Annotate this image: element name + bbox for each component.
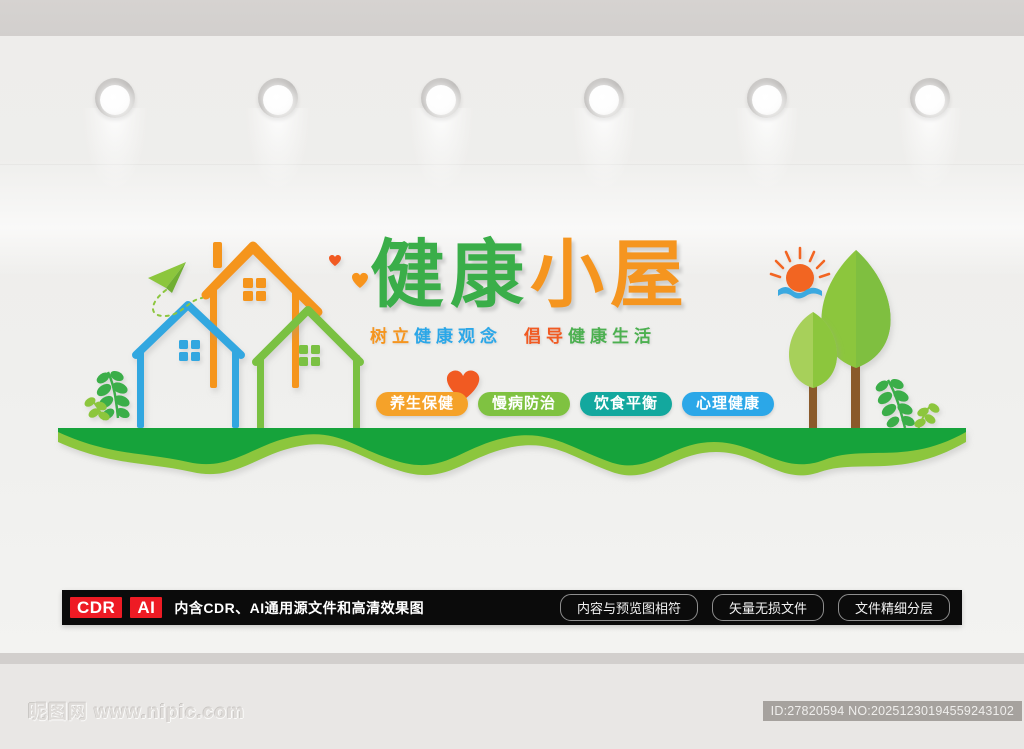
topic-pill-group: 养生保健 慢病防治 饮食平衡 心理健康 [376,392,774,416]
house-orange-window [243,278,266,301]
leaf-branch-icon [83,369,132,422]
subtitle: 树立健康观念倡导健康生活 [370,322,790,347]
tree-icon [789,312,837,435]
lamp-bulb-icon [263,85,293,115]
title-orange-part: 小屋 [530,233,690,316]
subtitle-char: 树 [370,327,392,346]
asset-id-label: ID:27820594 NO:20251230194559243102 [763,701,1022,721]
pill-label: 慢病防治 [492,395,556,412]
info-bar: CDR AI 内含CDR、AI通用源文件和高清效果图 内容与预览图相符 矢量无损… [62,590,962,625]
wall-artwork: 健康小屋 树立健康观念倡导健康生活 养生保健 慢病防治 饮食平衡 心理健康 [0,180,1024,500]
format-badge-cdr: CDR [70,597,122,618]
ceiling-light-2 [258,78,298,118]
pill-label: 养生保健 [390,395,454,412]
wave-graphic [58,428,966,475]
subtitle-char: 康 [436,327,458,346]
lamp-bulb-icon [426,85,456,115]
poster-preview-canvas: 健康小屋 树立健康观念倡导健康生活 养生保健 慢病防治 饮食平衡 心理健康 CD… [0,0,1024,749]
feature-pill-layers: 文件精细分层 [838,594,950,621]
subtitle-char: 健 [414,327,436,346]
ceiling-light-5 [747,78,787,118]
subtitle-char: 念 [480,327,502,346]
ceiling-light-1 [95,78,135,118]
paper-plane-icon [148,262,186,293]
footer-divider [0,653,1024,664]
subtitle-char: 立 [392,327,414,346]
format-badge-ai: AI [130,597,162,618]
title-block: 健康小屋 树立健康观念倡导健康生活 [370,232,790,347]
page-title: 健康小屋 [370,232,790,318]
ceiling-light-6 [910,78,950,118]
heart-icon [352,273,368,288]
ceiling-light-3 [421,78,461,118]
subtitle-char: 活 [634,327,656,346]
topic-pill-yangsheng[interactable]: 养生保健 [376,392,468,416]
info-bar-description: 内含CDR、AI通用源文件和高清效果图 [174,598,424,618]
feature-pill-group: 内容与预览图相符 矢量无损文件 文件精细分层 [560,594,962,621]
lamp-bulb-icon [915,85,945,115]
subtitle-char: 倡 [524,327,546,346]
subtitle-char: 生 [612,327,634,346]
site-watermark: 昵图网 www.nipic.com [28,697,245,724]
house-blue-window [179,340,200,361]
lamp-bulb-icon [752,85,782,115]
feature-pill-vector: 矢量无损文件 [712,594,824,621]
ceiling-light-4 [584,78,624,118]
leaf-branch-icon [874,377,942,430]
title-green-part: 健康 [370,233,530,316]
topic-pill-xinli[interactable]: 心理健康 [682,392,774,416]
subtitle-char: 观 [458,327,480,346]
topic-pill-manbing[interactable]: 慢病防治 [478,392,570,416]
lamp-bulb-icon [100,85,130,115]
topic-pill-yinshi[interactable]: 饮食平衡 [580,392,672,416]
house-green-window [299,345,320,366]
heart-icon [329,255,341,266]
house-blue-left [136,305,241,428]
feature-pill-match: 内容与预览图相符 [560,594,698,621]
ceiling-band [0,0,1024,36]
subtitle-char: 导 [546,327,568,346]
lamp-bulb-icon [589,85,619,115]
house-green-right [256,310,360,430]
subtitle-char: 康 [590,327,612,346]
pill-label: 心理健康 [696,395,760,412]
subtitle-char: 健 [568,327,590,346]
pill-label: 饮食平衡 [594,395,658,412]
